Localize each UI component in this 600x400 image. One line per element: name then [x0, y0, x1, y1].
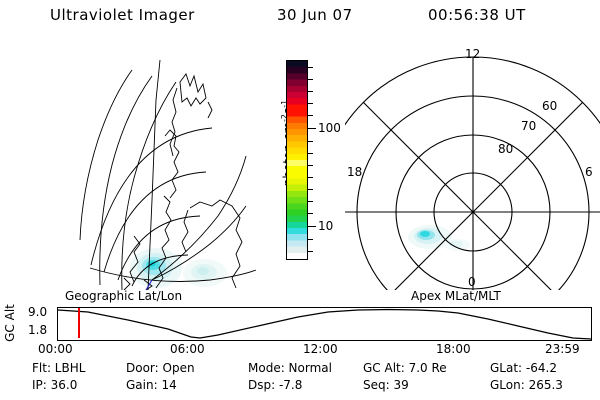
status-dsp: Dsp: -7.8 [248, 378, 302, 392]
colorbar-minor-tick [307, 91, 313, 92]
current-time-marker [78, 308, 80, 338]
status-row-2: IP: 36.0 Gain: 14 Dsp: -7.8 Seq: 39 GLon… [0, 378, 600, 395]
status-mode: Mode: Normal [248, 361, 332, 375]
colorbar-panel: photon cm-2s-1 100 10 [265, 48, 345, 290]
observation-date: 30 Jun 07 [277, 6, 353, 24]
geographic-panel-caption: Geographic Lat/Lon [65, 289, 182, 303]
polar-axes [345, 57, 600, 290]
status-filter: Flt: LBHL [32, 361, 85, 375]
header-bar: Ultraviolet Imager 30 Jun 07 00:56:38 UT [0, 4, 600, 28]
colorbar-minor-tick [307, 103, 313, 104]
status-row-1: Flt: LBHL Door: Open Mode: Normal GC Alt… [0, 361, 600, 378]
instrument-title: Ultraviolet Imager [50, 6, 195, 24]
colorbar-minor-tick [307, 153, 313, 154]
status-glat: GLat: -64.2 [490, 361, 557, 375]
mlt-label-6: 6 [585, 165, 593, 179]
colorbar-major-tick-100 [307, 128, 316, 129]
apex-polar-svg: 80 70 60 [345, 40, 600, 290]
status-door: Door: Open [126, 361, 195, 375]
orbit-altitude-strip: GC Alt 9.0 1.8 00:00 06:00 12:00 18:00 2… [0, 303, 600, 359]
mlat-label-80: 80 [498, 142, 513, 156]
orbit-xtick-0600: 06:00 [170, 342, 205, 356]
uvi-summary-plot: Ultraviolet Imager 30 Jun 07 00:56:38 UT [0, 0, 600, 400]
orbit-altitude-curve [58, 310, 591, 340]
observation-time: 00:56:38 UT [428, 6, 526, 24]
apex-panel-caption: Apex MLat/MLT [411, 289, 501, 303]
orbit-y-axis-label: GC Alt [3, 300, 17, 346]
status-gain: Gain: 14 [126, 378, 177, 392]
colorbar-minor-tick [307, 251, 313, 252]
mlat-label-60: 60 [542, 99, 557, 113]
mlt-label-18: 18 [347, 165, 362, 179]
aurora-emission-geographic [130, 248, 227, 288]
status-ip: IP: 36.0 [32, 378, 77, 392]
colorbar-minor-tick [307, 177, 313, 178]
geographic-map-svg [60, 40, 260, 290]
geographic-map-panel [60, 40, 260, 290]
colorbar-minor-tick [307, 213, 313, 214]
colorbar-minor-tick [307, 239, 313, 240]
orbit-xtick-0000: 00:00 [38, 342, 73, 356]
orbit-ytick-high: 9.0 [28, 305, 47, 319]
colorbar-major-tick-10 [307, 226, 316, 227]
colorbar-minor-tick [307, 79, 313, 80]
aurora-emission-apex [408, 225, 470, 251]
orbit-trace-svg [58, 308, 591, 340]
mlat-ring-labels: 80 70 60 [498, 99, 557, 156]
orbit-xtick-1800: 18:00 [436, 342, 471, 356]
orbit-xtick-2359: 23:59 [545, 342, 580, 356]
orbit-ytick-low: 1.8 [28, 323, 47, 337]
colorbar-minor-tick [307, 201, 313, 202]
orbit-xtick-1200: 12:00 [303, 342, 338, 356]
status-seq: Seq: 39 [363, 378, 409, 392]
colorbar-tick-label-10: 10 [318, 219, 333, 233]
mlt-label-0: 0 [468, 275, 476, 289]
colorbar-minor-tick [307, 189, 313, 190]
mlat-label-70: 70 [521, 119, 536, 133]
apex-polar-panel: 80 70 60 12 6 0 18 [345, 40, 600, 290]
orbit-plot-box [57, 307, 592, 341]
colorbar-tick-label-100: 100 [318, 121, 341, 135]
colorbar-gradient [286, 60, 308, 260]
mlt-label-12: 12 [465, 47, 480, 61]
status-glon: GLon: 265.3 [490, 378, 563, 392]
status-block: Flt: LBHL Door: Open Mode: Normal GC Alt… [0, 361, 600, 397]
colorbar-minor-tick [307, 115, 313, 116]
colorbar-minor-tick [307, 141, 313, 142]
colorbar-minor-tick [307, 165, 313, 166]
colorbar-minor-tick [307, 67, 313, 68]
status-gc-alt: GC Alt: 7.0 Re [363, 361, 447, 375]
